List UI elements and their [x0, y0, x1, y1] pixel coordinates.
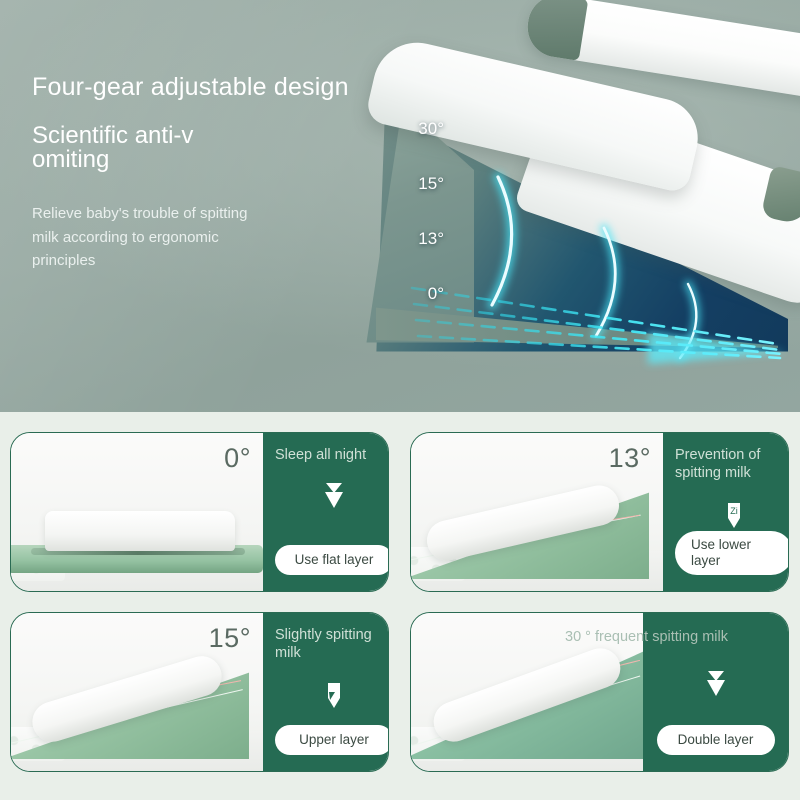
angle-label-0: 0° — [382, 285, 444, 302]
feature-card-15deg[interactable]: 15° Slightly spitting milk Upper layer — [10, 612, 389, 772]
layer-pill-button[interactable]: Use lower layer — [675, 531, 789, 575]
product-photo-13deg: 13° — [411, 433, 663, 591]
product-photo-15deg: 15° — [11, 613, 263, 771]
layer-pill-button[interactable]: Use flat layer — [275, 545, 389, 575]
bolster-cap — [523, 0, 588, 61]
hero-description: Relieve baby's trouble of spitting milk … — [32, 202, 272, 272]
info-panel-15deg: Slightly spitting milk Upper layer — [263, 613, 389, 771]
double-chevron-down-icon — [704, 667, 728, 701]
panel-title: Sleep all night — [275, 447, 389, 465]
photo-angle-label: 15° — [209, 623, 251, 654]
info-panel-13deg: Prevention of spitting milk Zi Use lower… — [663, 433, 789, 591]
panel-title: Slightly spitting milk — [275, 627, 389, 662]
hero-copy-block: Four-gear adjustable design Scientific a… — [32, 74, 392, 272]
info-panel-0deg: Sleep all night Use flat layer — [263, 433, 389, 591]
hero-section: 30° 15° 13° 0° Four-gear adjustable desi… — [0, 0, 800, 412]
product-photo-0deg: 0° — [11, 433, 263, 591]
svg-text:Zi: Zi — [730, 506, 738, 516]
product-detail-page: 30° 15° 13° 0° Four-gear adjustable desi… — [0, 0, 800, 800]
panel-title: 30 ° frequent spitting milk — [565, 629, 789, 647]
layer-pill-button[interactable]: Double layer — [657, 725, 775, 755]
arrow-down-pin-icon: Zi — [724, 498, 744, 530]
panel-title: Prevention of spitting milk — [675, 447, 789, 482]
angle-label-group: 30° 15° 13° 0° — [382, 120, 474, 340]
product-illustration: 30° 15° 13° 0° — [348, 0, 800, 412]
photo-angle-label: 0° — [224, 443, 251, 474]
double-chevron-down-icon — [322, 479, 346, 513]
feature-card-grid: 0° Sleep all night Use flat layer — [0, 412, 800, 800]
arrow-down-pin-icon — [324, 678, 344, 712]
feature-card-30deg[interactable]: 30 ° frequent spitting milk Double layer — [410, 612, 789, 772]
pillow-white-top — [45, 511, 235, 551]
feature-card-0deg[interactable]: 0° Sleep all night Use flat layer — [10, 432, 389, 592]
layer-pill-button[interactable]: Upper layer — [275, 725, 389, 755]
hero-subtitle: Scientific anti-vomiting — [32, 124, 202, 173]
mattress-nub — [761, 165, 800, 226]
hero-title: Four-gear adjustable design — [32, 74, 392, 102]
info-panel-30deg: 30 ° frequent spitting milk Double layer — [643, 613, 788, 771]
feature-card-13deg[interactable]: 13° Prevention of spitting milk Zi Use l… — [410, 432, 789, 592]
photo-angle-label: 13° — [609, 443, 651, 474]
